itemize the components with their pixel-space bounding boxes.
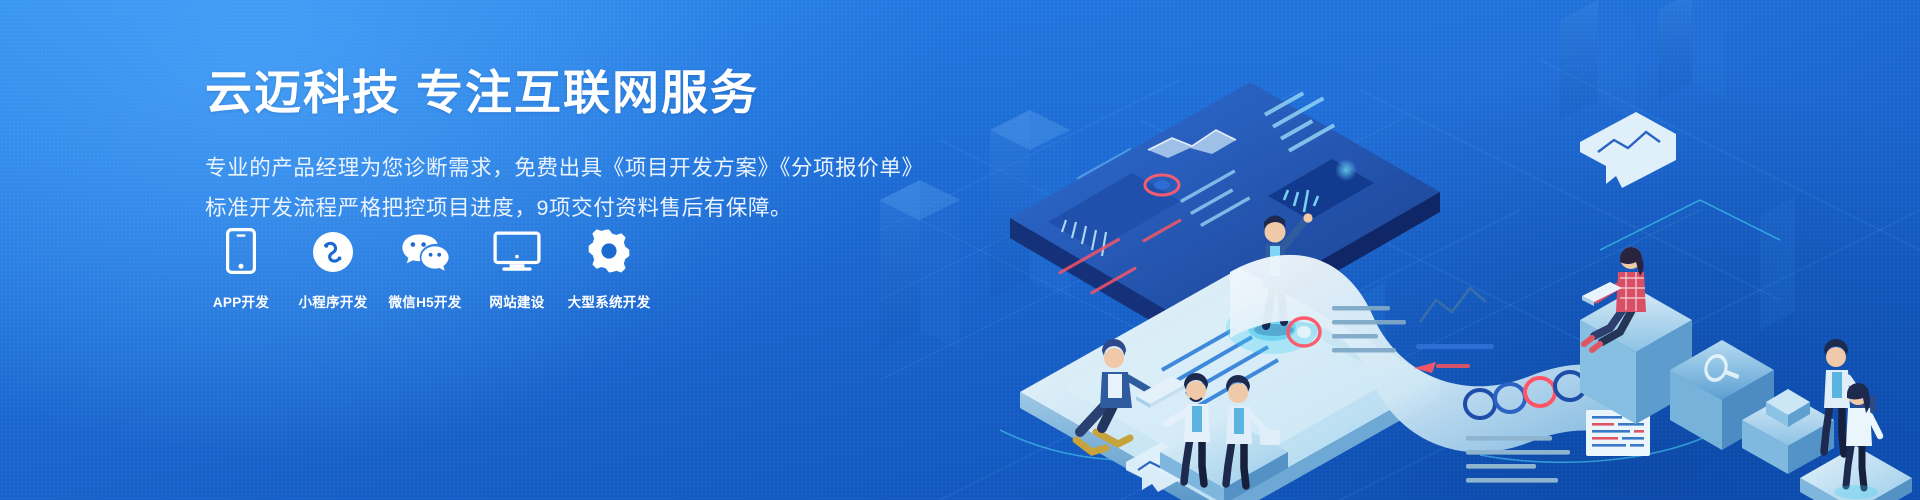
service-label: 网站建设 [489, 291, 544, 311]
service-label: APP开发 [213, 291, 269, 311]
service-label: 大型系统开发 [568, 291, 651, 311]
gear-icon [586, 228, 632, 274]
banner-subtitle-line-1: 专业的产品经理为您诊断需求，免费出具《项目开发方案》《分项报价单》 [205, 149, 905, 187]
service-item-wechat-h5[interactable]: 微信H5开发 [389, 228, 461, 311]
banner-subtitle-line-2: 标准开发流程严格把控项目进度，9项交付资料售后有保障。 [205, 189, 905, 227]
isometric-illustration [880, 0, 1920, 500]
mini-program-icon [311, 228, 355, 274]
service-item-website[interactable]: 网站建设 [481, 228, 553, 311]
hero-banner: 云迈科技 专注互联网服务 专业的产品经理为您诊断需求，免费出具《项目开发方案》《… [0, 0, 1920, 500]
banner-headline: 云迈科技 专注互联网服务 [205, 66, 905, 121]
service-icon-row: APP开发 小程序开发 [205, 228, 645, 311]
mobile-phone-icon [226, 228, 256, 274]
service-label: 微信H5开发 [388, 291, 461, 311]
service-item-miniprogram[interactable]: 小程序开发 [297, 228, 369, 311]
service-item-large-system[interactable]: 大型系统开发 [573, 228, 645, 311]
wechat-icon [399, 228, 451, 274]
banner-copy: 云迈科技 专注互联网服务 专业的产品经理为您诊断需求，免费出具《项目开发方案》《… [205, 66, 905, 227]
service-label: 小程序开发 [299, 291, 368, 311]
service-item-app[interactable]: APP开发 [205, 228, 277, 311]
monitor-icon [493, 228, 541, 274]
